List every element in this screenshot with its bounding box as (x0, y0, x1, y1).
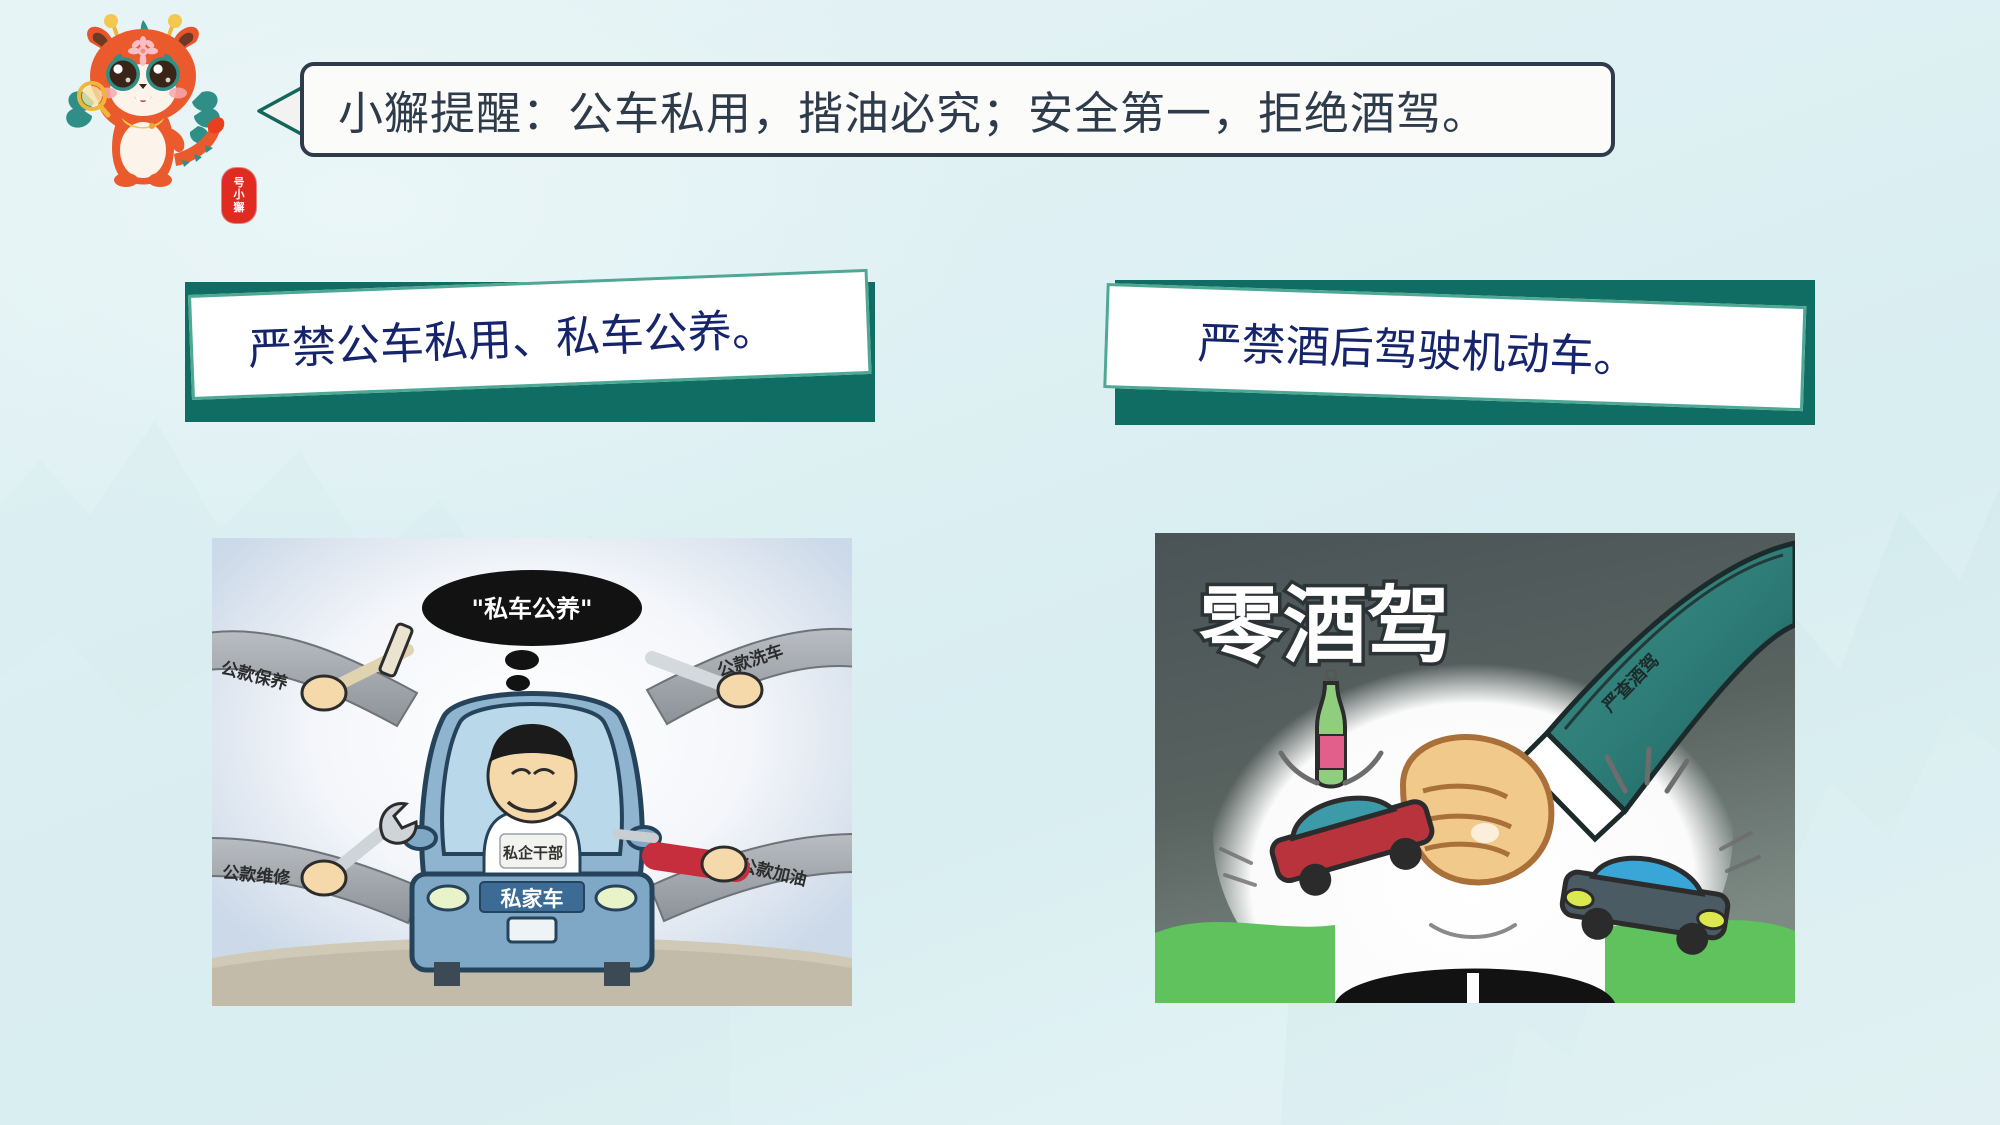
illus-right-headline: 零酒驾 (1199, 577, 1451, 675)
reminder-speech-bubble: 小獬提醒：公车私用，揩油必究；安全第一，拒绝酒驾。 (300, 62, 1615, 157)
illus-left-thought-text: "私车公养" (471, 595, 592, 623)
banner-no-drunk-driving: 严禁酒后驾驶机动车。 (1095, 258, 1815, 433)
seal-char-2: 小 (234, 189, 245, 201)
illustration-zero-drunk-driving: 零酒驾 严查酒驾 (1155, 533, 1795, 1003)
mascot-seal-stamp: 号 小 獬 (222, 168, 256, 223)
illus-left-car-plate: 私家车 (501, 887, 564, 911)
slide-canvas: 号 小 獬 小獬提醒：公车私用，揩油必究；安全第一，拒绝酒驾。 严禁公车私用、私… (0, 0, 2000, 1125)
banner-no-private-use: 严禁公车私用、私车公养。 (185, 262, 885, 427)
banner-right-label: 严禁酒后驾驶机动车。 (1197, 307, 1639, 386)
mascot-xiaoxie (48, 14, 238, 194)
illus-left-person-badge: 私企干部 (502, 844, 563, 862)
reminder-text: 小獬提醒：公车私用，揩油必究；安全第一，拒绝酒驾。 (304, 77, 1488, 142)
illustration-private-car-public-funds: 公款保养 公款维修 公款洗车 公款加油 "私车公养" 私家车 (212, 538, 852, 1006)
seal-char-3: 獬 (234, 202, 245, 214)
banner-left-label: 严禁公车私用、私车公养。 (247, 293, 777, 377)
